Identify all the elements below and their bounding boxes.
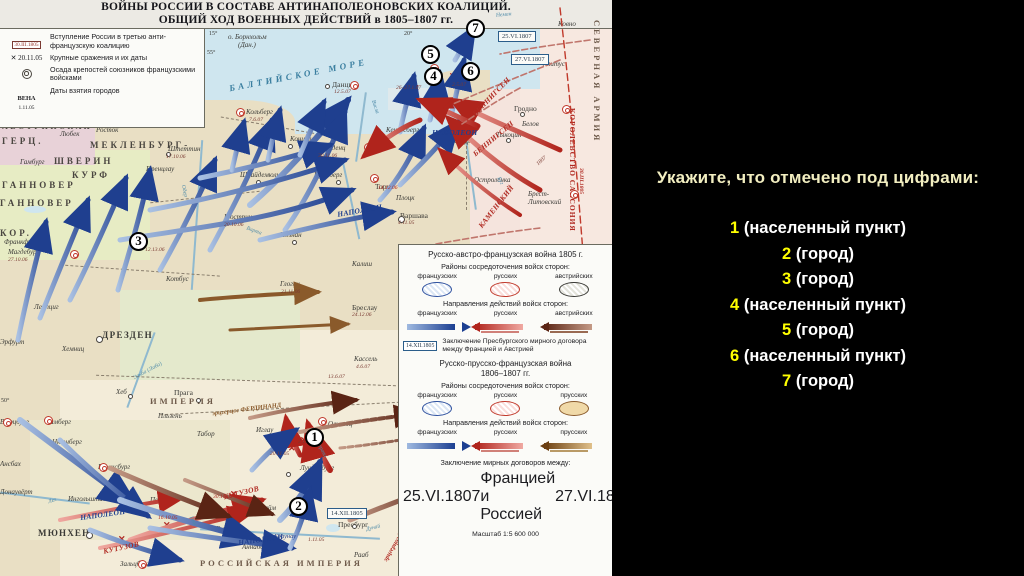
slide: ВОЙНЫ РОССИИ В СОСТАВЕ АНТИНАПОЛЕОНОВСКИ…: [0, 0, 1024, 576]
legend-peace-treaties: 25.VI.1807 Францией и Россией 27.VI.1807…: [403, 470, 608, 524]
area-swatch-austrian: [559, 282, 589, 297]
city-label: Линц: [205, 511, 220, 519]
date-label: 2.5.07: [452, 82, 466, 88]
date-label: 20.10.06: [224, 222, 244, 228]
battle-cross: ✕: [163, 521, 171, 530]
legend-symbol-city: ВЕНА 1.11.05: [3, 87, 50, 111]
legend-area-label: прусских: [560, 392, 587, 399]
historical-map-image: ВОЙНЫ РОССИИ В СОСТАВЕ АНТИНАПОЛЕОНОВСКИ…: [0, 0, 612, 576]
map-title-line1: ВОЙНЫ РОССИИ В СОСТАВЕ АНТИНАПОЛЕОНОВСКИ…: [0, 1, 612, 14]
city-label: Кенигсберг: [386, 126, 419, 134]
date-label: 7.6.07: [249, 117, 263, 123]
city-label: Донаувёрт: [0, 488, 33, 496]
city-label: Пльзень: [158, 412, 182, 420]
legend-city-name: ВЕНА: [17, 95, 35, 102]
city-label: Кюстрин: [224, 213, 252, 221]
coordinate-label: 50°: [1, 398, 9, 404]
answer-number: 7: [782, 372, 791, 390]
legend-row-text: Вступление России в третью анти-французс…: [50, 33, 201, 50]
answer-item-4: 4 (населенный пункт): [612, 293, 1024, 319]
fortress-icon: [22, 69, 32, 79]
legend-area-cell: французских: [403, 392, 471, 416]
city-label: Брест-Литовский: [528, 190, 568, 206]
city-dot: [506, 138, 511, 143]
commander-label: Браунау: [274, 533, 296, 540]
city-label: Гродно: [514, 104, 537, 113]
area-swatch-russian: [490, 282, 520, 297]
city-label: Пассау: [150, 496, 171, 504]
city-label: Цнайм: [256, 504, 276, 512]
city-label: Грауденц: [318, 144, 346, 152]
date-label: 16.10.05: [158, 515, 178, 521]
city-label: (Дан.): [238, 41, 256, 49]
legend-row-text: Осада крепостей союзников французскими в…: [50, 66, 201, 83]
answer-text: (населенный пункт): [744, 347, 906, 365]
city-label: Лейпциг: [34, 303, 59, 311]
fortress-icon-salzburg: [138, 560, 147, 569]
legend-directions-label-1: Направления действий войск сторон:: [403, 299, 608, 308]
treaty-text: Заключение Пресбургского мирного договор…: [442, 338, 608, 354]
answer-text: (город): [796, 321, 854, 339]
city-label: Шнайдемюль: [240, 171, 280, 179]
peace-treaty-tilsit-russia: 25.VI.1807 Францией и Россией: [403, 470, 555, 524]
legend-area-label: французских: [417, 392, 457, 399]
capital-dot-dresden: [96, 336, 103, 343]
legend-direction-cell: русских: [471, 310, 539, 334]
city-dot: [286, 472, 291, 477]
answer-text: (город): [796, 245, 854, 263]
city-dot: [325, 84, 330, 89]
map-marker-2[interactable]: 2: [289, 497, 308, 516]
date-label: 12.5.07: [334, 89, 351, 95]
fortress-icon-thorn: [370, 174, 379, 183]
city-dot: [352, 524, 357, 529]
answer-text: (город): [796, 372, 854, 390]
city-label: Бромберг: [314, 171, 342, 179]
city-label: Иглау: [256, 426, 273, 434]
city-label: Франкфурт: [4, 238, 39, 246]
legend-war1-directions: французских русских австрийских: [403, 310, 608, 334]
answer-text: (населенный пункт): [744, 219, 906, 237]
city-label: Ковно: [558, 20, 576, 28]
map-marker-1[interactable]: 1: [305, 428, 324, 447]
date-label: 20.11.05: [270, 451, 289, 457]
legend-row-text: Крупные сражения и их даты: [50, 54, 147, 63]
legend-row: ✕ 20.11.05 Крупные сражения и их даты: [3, 54, 201, 63]
fortress-icon-kolberg: [236, 108, 245, 117]
legend-area-cell: русских: [471, 392, 539, 416]
region-label-northern-army: КОРОЛЕВСТВО САКСОНИЯ: [568, 108, 577, 232]
answer-item-6: 6 (населенный пункт): [612, 344, 1024, 370]
city-dot: [292, 240, 297, 245]
treaty-plaque: 25.VI.1807: [498, 31, 536, 42]
answer-number: 5: [782, 321, 791, 339]
answer-item-2: 2 (город): [612, 242, 1024, 268]
arrow-swatch-french: [403, 320, 471, 334]
fortress-icon-regensburg: [99, 463, 108, 472]
date-label: 24.12.06: [352, 312, 372, 318]
legend-row: ВЕНА 1.11.05 Даты взятия городов: [3, 87, 201, 111]
map-scale: Масштаб 1:5 600 000: [403, 531, 608, 538]
region-label-empire: РОССИЙСКАЯ ИМПЕРИЯ: [200, 558, 363, 568]
city-dot: [288, 144, 293, 149]
region-label-kurf: ГАННОВЕР: [2, 180, 76, 190]
legend-directions-label-2: Направления действий войск сторон:: [403, 418, 608, 427]
legend-area-cell: французских: [403, 273, 471, 297]
city-label: Любек: [60, 130, 80, 138]
city-label: Хеб: [116, 388, 127, 396]
capital-dot-munich: [86, 532, 93, 539]
battle-cross: ✕: [449, 72, 457, 81]
legend-bottom-right: Русско-австро-французская война 1805 г. …: [398, 244, 612, 576]
arrow-swatch-russian: [471, 320, 539, 334]
date-label: 12.13.06: [145, 247, 165, 253]
city-label: Энс: [216, 525, 227, 533]
date-label: 14.12.06: [378, 185, 398, 191]
treaty-tag: 27.VI.1807: [555, 488, 612, 506]
city-label: Рааб: [354, 551, 369, 559]
city-label-munich: МЮНХЕН: [38, 528, 90, 538]
answer-number: 1: [730, 219, 739, 237]
legend-areas-label-1: Районы сосредоточения войск сторон:: [403, 262, 608, 271]
answer-number: 2: [782, 245, 791, 263]
legend-war2-title-line2: 1806–1807 гг.: [403, 369, 608, 378]
fortress-icon-magdeburg: [70, 250, 79, 259]
city-label: Пренцлау: [146, 165, 174, 173]
commander-label: НАПОЛЕОН: [432, 128, 478, 137]
legend-direction-label: русских: [494, 310, 517, 317]
arrow-swatch-russian-2: [471, 439, 539, 453]
city-label: Мариенбург: [438, 137, 474, 145]
legend-direction-cell: австрийских: [540, 310, 608, 334]
city-label: Магдебург: [8, 248, 39, 256]
answer-item-7: 7 (город): [612, 369, 1024, 395]
date-label: 13.6.07: [328, 374, 345, 380]
city-label: Глогау: [280, 280, 300, 288]
map-title-line2: ОБЩИЙ ХОД ВОЕННЫХ ДЕЙСТВИЙ в 1805–1807 г…: [0, 14, 612, 27]
legend-peace-label: Заключение мирных договоров между:: [403, 458, 608, 467]
answer-item-5: 5 (город): [612, 318, 1024, 344]
region-label-austrian-empire: ИМПЕРИЯ: [150, 396, 216, 406]
arrow-swatch-prussian: [540, 439, 608, 453]
city-label: Прага: [174, 388, 193, 397]
legend-row: 30.III.1805 Вступление России в третью а…: [3, 33, 201, 51]
city-dot: [336, 180, 341, 185]
legend-symbol-fortress: [3, 66, 50, 84]
map-marker-3[interactable]: 3: [129, 232, 148, 251]
legend-war2-title-line1: Русско-прусско-французская война: [403, 359, 608, 368]
treaty-text-line1: Францией: [480, 470, 555, 488]
legend-direction-label: русских: [494, 429, 517, 436]
city-dot: [520, 112, 525, 117]
area-swatch-russian-2: [490, 401, 520, 416]
treaty-tag: 14.XII.1805: [403, 341, 437, 351]
city-label: Ансбах: [0, 460, 21, 468]
legend-direction-cell: французских: [403, 310, 471, 334]
area-swatch-french-2: [422, 401, 452, 416]
arrow-swatch-austrian: [540, 320, 608, 334]
legend-area-cell: прусских: [540, 392, 608, 416]
map-title: ВОЙНЫ РОССИИ В СОСТАВЕ АНТИНАПОЛЕОНОВСКИ…: [0, 0, 612, 29]
border-russia-west: [466, 100, 467, 210]
area-swatch-prussian: [559, 401, 589, 416]
legend-direction-cell: прусских: [540, 429, 608, 453]
city-label: Кассель: [354, 355, 377, 363]
answer-text: (город): [796, 270, 854, 288]
city-label: Штеттин: [168, 145, 200, 153]
map-marker-5[interactable]: 5: [421, 45, 440, 64]
region-label-russian-empire: СЕВЕРНАЯ АРМИЯ: [592, 20, 602, 143]
fortress-icon-graudenz: [364, 143, 373, 152]
city-label: Познан: [280, 231, 302, 239]
treaty-plaque: 14.XII.1805: [327, 508, 367, 519]
legend-war1-title: Русско-австро-французская война 1805 г.: [403, 250, 608, 259]
legend-row: Осада крепостей союзников французскими в…: [3, 66, 201, 84]
city-label: Нюрнберг: [52, 438, 82, 446]
legend-war1-areas: французских русских австрийских: [403, 273, 608, 297]
date-label: 27.10.06: [8, 257, 28, 263]
legend-area-label: французских: [417, 273, 457, 280]
treaty-text: Францией и Россией: [480, 470, 555, 524]
city-label: Кольберг: [246, 108, 273, 116]
legend-top-left: 30.III.1805 Вступление России в третью а…: [0, 29, 205, 128]
region-label-hannover: ГАННОВЕР: [0, 198, 74, 208]
treaty-plaque: 27.VI.1807: [511, 54, 549, 65]
city-dot: [256, 180, 261, 185]
fortress-icon-olmutz: [318, 417, 327, 426]
date-label: 26–27.1.07: [396, 85, 421, 91]
legend-row-text: Даты взятия городов: [50, 87, 120, 96]
city-label-dresden: ДРЕЗДЕН: [102, 330, 153, 340]
city-label: Котбус: [166, 275, 189, 283]
legend-direction-label: прусских: [560, 429, 587, 436]
legend-direction-label: французских: [417, 429, 457, 436]
fortress-icon-wurzburg: [3, 418, 12, 427]
legend-symbol-date: 30.III.1805: [3, 33, 50, 51]
region-label-schwerin: КУРФ: [72, 170, 110, 180]
question-panel: Укажите, что отмечено под цифрами: 1 (на…: [612, 0, 1024, 576]
legend-area-cell: австрийских: [540, 273, 608, 297]
legend-area-label: австрийских: [555, 273, 593, 280]
coordinate-label: 55°: [207, 50, 215, 56]
city-label: Лунденбург: [300, 464, 334, 472]
area-swatch-french: [422, 282, 452, 297]
answer-item-1: 1 (населенный пункт): [612, 216, 1024, 242]
treaty-tag: 25.VI.1807: [403, 488, 480, 506]
legend-symbol-battle: ✕ 20.11.05: [3, 54, 50, 62]
legend-city-date: 1.11.05: [3, 105, 50, 111]
coordinate-label: 20°: [404, 31, 412, 37]
legend-direction-cell: русских: [471, 429, 539, 453]
region-label-hannover-2: КОР.: [0, 228, 32, 238]
question-heading: Укажите, что отмечено под цифрами:: [612, 168, 1024, 188]
city-label: Белов: [522, 120, 539, 128]
legend-areas-label-2: Районы сосредоточения войск сторон:: [403, 381, 608, 390]
city-label: Ингольштадт: [68, 495, 111, 503]
city-label: Хемниц: [62, 345, 84, 353]
coordinate-label: 15°: [209, 31, 217, 37]
city-label: Остроленка: [474, 176, 510, 184]
date-label: 30.III.1805: [578, 168, 584, 194]
date-label: 4.11.05: [398, 220, 414, 226]
date-label: 17.10.06: [166, 154, 186, 160]
answer-number: 6: [730, 347, 739, 365]
fortress-icon-bamberg: [44, 416, 53, 425]
date-label: 1.11.05: [308, 537, 324, 543]
answer-text: (населенный пункт): [744, 296, 906, 314]
answer-number: 4: [730, 296, 739, 314]
answer-item-3: 3 (город): [612, 267, 1024, 293]
city-label: Ольмюц: [328, 420, 352, 428]
answer-list: 1 (населенный пункт) 2 (город) 3 (город)…: [612, 216, 1024, 395]
city-dot: [128, 394, 133, 399]
date-label: 4.6.07: [356, 364, 370, 370]
city-label: Калиш: [352, 260, 372, 268]
peace-treaty-tilsit-prussia: 27.VI.1807 Францией и Пруссией: [555, 470, 612, 524]
legend-direction-label: французских: [417, 310, 457, 317]
legend-direction-label: австрийских: [555, 310, 593, 317]
answer-number: 3: [782, 270, 791, 288]
fortress-icon-grodno: [562, 105, 571, 114]
map-marker-7[interactable]: 7: [466, 19, 485, 38]
region-label-mecklenburg: ШВЕРИН: [54, 156, 113, 166]
city-label: Табор: [197, 430, 215, 438]
legend-direction-cell: французских: [403, 429, 471, 453]
date-label: 21.11.06: [281, 289, 300, 295]
treaty-text-line2: и Россией: [480, 488, 555, 524]
city-label: Гамбург: [20, 158, 44, 166]
region-label-denmark: ГЕРЦ.: [2, 136, 43, 146]
city-label: Плоцк: [396, 194, 414, 202]
legend-area-label: русских: [494, 273, 517, 280]
date-label: 30.11.06: [318, 153, 337, 159]
map-marker-6[interactable]: 6: [461, 62, 480, 81]
city-dot: [90, 470, 95, 475]
legend-war2-areas: французских русских прусских: [403, 392, 608, 416]
city-label: Конитц: [290, 135, 313, 143]
city-label: о. Борнхольм: [228, 33, 267, 41]
city-label: Эрфурт: [0, 338, 24, 346]
legend-area-cell: русских: [471, 273, 539, 297]
city-dot: [196, 398, 201, 403]
fortress-icon-danzig: [350, 81, 359, 90]
arrow-swatch-french-2: [403, 439, 471, 453]
map-marker-4[interactable]: 4: [424, 67, 443, 86]
legend-treaty-pressburg: 14.XII.1805 Заключение Пресбургского мир…: [403, 338, 608, 354]
legend-area-label: русских: [494, 392, 517, 399]
city-label: Бреслау: [352, 303, 377, 312]
legend-war2-directions: французских русских прусских: [403, 429, 608, 453]
legend-date-plate: 30.III.1805: [12, 41, 40, 49]
